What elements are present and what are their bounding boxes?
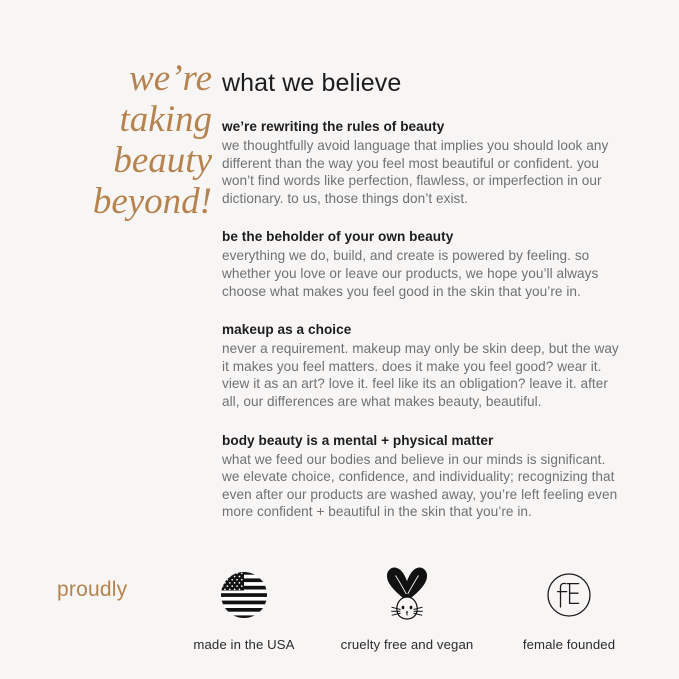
content-column: what we believe we’re rewriting the rule… (222, 68, 622, 521)
headline-block: we’re taking beauty beyond! (0, 58, 212, 222)
belief-body: we thoughtfully avoid language that impl… (222, 137, 622, 207)
headline-line-2: taking (0, 99, 212, 140)
belief-block-beholder: be the beholder of your own beauty every… (222, 228, 622, 300)
headline-line-4: beyond! (0, 181, 212, 222)
cruelty-free-bunny-icon (324, 566, 490, 624)
belief-body: what we feed our bodies and believe in o… (222, 451, 622, 521)
belief-body: never a requirement. makeup may only be … (222, 340, 622, 410)
belief-heading: be the beholder of your own beauty (222, 228, 622, 246)
usa-flag-circle-icon (161, 566, 327, 624)
headline-line-1: we’re (0, 58, 212, 99)
badge-strip: proudly (0, 566, 679, 666)
belief-block-body-beauty: body beauty is a mental + physical matte… (222, 432, 622, 521)
badge-caption: cruelty free and vegan (324, 637, 490, 652)
belief-block-rewriting-rules: we’re rewriting the rules of beauty we t… (222, 118, 622, 207)
belief-heading: body beauty is a mental + physical matte… (222, 432, 622, 450)
headline-line-3: beauty (0, 140, 212, 181)
badge-made-in-usa: made in the USA (161, 566, 327, 652)
badge-female-founded: female founded (486, 566, 652, 652)
badge-caption: female founded (486, 637, 652, 652)
page-title: what we believe (222, 68, 622, 98)
proudly-label: proudly (57, 578, 127, 602)
belief-heading: we’re rewriting the rules of beauty (222, 118, 622, 136)
believe-page: we’re taking beauty beyond! what we beli… (0, 0, 679, 679)
female-founded-monogram-icon (486, 566, 652, 624)
badge-cruelty-free-vegan: cruelty free and vegan (324, 566, 490, 652)
belief-block-makeup-choice: makeup as a choice never a requirement. … (222, 321, 622, 410)
belief-body: everything we do, build, and create is p… (222, 247, 622, 300)
belief-heading: makeup as a choice (222, 321, 622, 339)
badge-caption: made in the USA (161, 637, 327, 652)
